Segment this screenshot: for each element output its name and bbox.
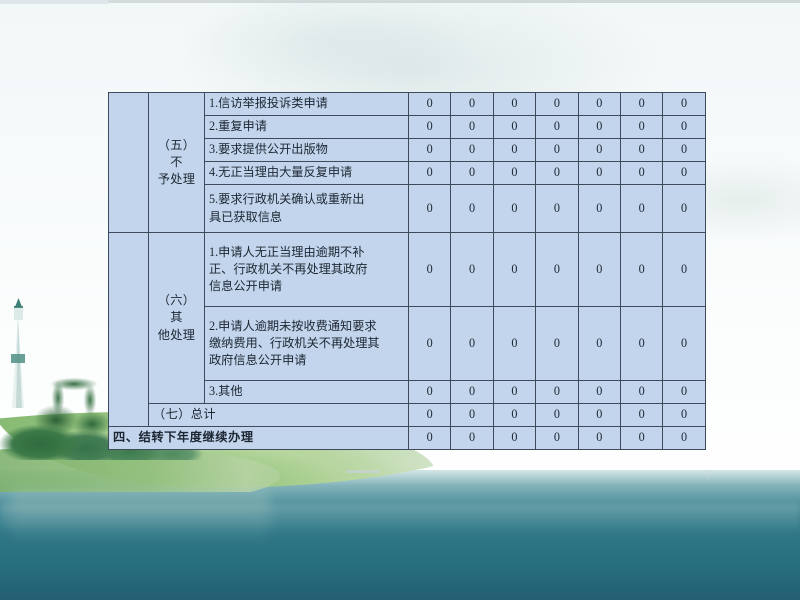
value-cell: 0 bbox=[578, 139, 620, 162]
value-cell: 0 bbox=[663, 139, 705, 162]
value-cell: 0 bbox=[578, 307, 620, 381]
value-cell: 0 bbox=[663, 404, 705, 427]
group-label-five: （五）不 予处理 bbox=[149, 93, 205, 233]
value-cell: 0 bbox=[409, 93, 451, 116]
table-row: （五）不 予处理 1.信访举报投诉类申请 0 0 0 0 0 0 0 bbox=[109, 93, 706, 116]
value-cell: 0 bbox=[620, 93, 662, 116]
value-cell: 0 bbox=[536, 233, 578, 307]
value-cell: 0 bbox=[493, 185, 535, 233]
item-label: 2.申请人逾期未按收费通知要求 缴纳费用、行政机关不再处理其 政府信息公开申请 bbox=[205, 307, 409, 381]
value-cell: 0 bbox=[620, 307, 662, 381]
value-cell: 0 bbox=[409, 139, 451, 162]
group-label-six: （六）其 他处理 bbox=[149, 233, 205, 404]
value-cell: 0 bbox=[409, 116, 451, 139]
item-line: 信息公开申请 bbox=[209, 278, 404, 295]
value-cell: 0 bbox=[578, 427, 620, 450]
item-line: 4.无正当理由大量反复申请 bbox=[209, 164, 404, 181]
group-label-line: （五）不 bbox=[153, 137, 200, 172]
value-cell: 0 bbox=[451, 233, 493, 307]
value-cell: 0 bbox=[451, 404, 493, 427]
item-label: 4.无正当理由大量反复申请 bbox=[205, 162, 409, 185]
value-cell: 0 bbox=[620, 162, 662, 185]
value-cell: 0 bbox=[536, 162, 578, 185]
value-cell: 0 bbox=[451, 93, 493, 116]
value-cell: 0 bbox=[493, 93, 535, 116]
value-cell: 0 bbox=[493, 116, 535, 139]
value-cell: 0 bbox=[451, 307, 493, 381]
value-cell: 0 bbox=[578, 116, 620, 139]
value-cell: 0 bbox=[663, 307, 705, 381]
value-cell: 0 bbox=[578, 162, 620, 185]
value-cell: 0 bbox=[536, 93, 578, 116]
value-cell: 0 bbox=[451, 381, 493, 404]
value-cell: 0 bbox=[578, 381, 620, 404]
item-line: 1.信访举报投诉类申请 bbox=[209, 95, 404, 112]
value-cell: 0 bbox=[409, 307, 451, 381]
presentation-slide: （五）不 予处理 1.信访举报投诉类申请 0 0 0 0 0 0 0 2.重复申… bbox=[0, 0, 800, 600]
value-cell: 0 bbox=[451, 185, 493, 233]
value-cell: 0 bbox=[451, 139, 493, 162]
value-cell: 0 bbox=[536, 116, 578, 139]
item-line: 1.申请人无正当理由逾期不补 bbox=[209, 244, 404, 261]
table-body: （五）不 予处理 1.信访举报投诉类申请 0 0 0 0 0 0 0 2.重复申… bbox=[109, 93, 706, 450]
group-label-line: 予处理 bbox=[153, 171, 200, 188]
group-label-line: （六）其 bbox=[153, 292, 200, 327]
value-cell: 0 bbox=[451, 116, 493, 139]
value-cell: 0 bbox=[493, 139, 535, 162]
scan-artifact-line bbox=[346, 470, 380, 473]
lighthouse-icon bbox=[8, 298, 30, 408]
value-cell: 0 bbox=[493, 427, 535, 450]
top-edge-strip bbox=[0, 0, 800, 3]
value-cell: 0 bbox=[536, 381, 578, 404]
item-line: 2.重复申请 bbox=[209, 118, 404, 135]
value-cell: 0 bbox=[409, 185, 451, 233]
value-cell: 0 bbox=[493, 307, 535, 381]
table-row-carryover: 四、结转下年度继续办理 0 0 0 0 0 0 0 bbox=[109, 427, 706, 450]
value-cell: 0 bbox=[578, 233, 620, 307]
carryover-label: 四、结转下年度继续办理 bbox=[109, 427, 409, 450]
item-label: 1.信访举报投诉类申请 bbox=[205, 93, 409, 116]
item-line: 缴纳费用、行政机关不再处理其 bbox=[209, 335, 404, 352]
value-cell: 0 bbox=[409, 427, 451, 450]
value-cell: 0 bbox=[493, 404, 535, 427]
value-cell: 0 bbox=[578, 93, 620, 116]
item-line: 5.要求行政机关确认或重新出 bbox=[209, 191, 404, 208]
item-line: 政府信息公开申请 bbox=[209, 352, 404, 369]
table-row-total: （七）总计 0 0 0 0 0 0 0 bbox=[109, 404, 706, 427]
government-information-disclosure-table: （五）不 予处理 1.信访举报投诉类申请 0 0 0 0 0 0 0 2.重复申… bbox=[108, 92, 706, 450]
value-cell: 0 bbox=[451, 162, 493, 185]
value-cell: 0 bbox=[536, 404, 578, 427]
item-line: 3.其他 bbox=[209, 383, 404, 400]
value-cell: 0 bbox=[536, 427, 578, 450]
value-cell: 0 bbox=[663, 185, 705, 233]
value-cell: 0 bbox=[620, 116, 662, 139]
total-label: （七）总计 bbox=[149, 404, 409, 427]
item-label: 1.申请人无正当理由逾期不补 正、行政机关不再处理其政府 信息公开申请 bbox=[205, 233, 409, 307]
item-line: 3.要求提供公开出版物 bbox=[209, 141, 404, 158]
item-label: 3.要求提供公开出版物 bbox=[205, 139, 409, 162]
value-cell: 0 bbox=[536, 307, 578, 381]
value-cell: 0 bbox=[620, 381, 662, 404]
value-cell: 0 bbox=[493, 233, 535, 307]
value-cell: 0 bbox=[536, 185, 578, 233]
value-cell: 0 bbox=[451, 427, 493, 450]
value-cell: 0 bbox=[620, 427, 662, 450]
value-cell: 0 bbox=[409, 381, 451, 404]
value-cell: 0 bbox=[663, 162, 705, 185]
value-cell: 0 bbox=[578, 404, 620, 427]
value-cell: 0 bbox=[409, 162, 451, 185]
value-cell: 0 bbox=[663, 93, 705, 116]
value-cell: 0 bbox=[663, 233, 705, 307]
value-cell: 0 bbox=[409, 233, 451, 307]
value-cell: 0 bbox=[493, 162, 535, 185]
palm-tree-icon bbox=[38, 372, 110, 418]
item-label: 3.其他 bbox=[205, 381, 409, 404]
water-reflection bbox=[10, 490, 270, 540]
category-merged-cell-upper bbox=[109, 93, 149, 233]
top-edge-strip-left bbox=[0, 0, 108, 4]
item-label: 2.重复申请 bbox=[205, 116, 409, 139]
value-cell: 0 bbox=[663, 427, 705, 450]
value-cell: 0 bbox=[409, 404, 451, 427]
item-line: 具已获取信息 bbox=[209, 209, 404, 226]
value-cell: 0 bbox=[620, 185, 662, 233]
value-cell: 0 bbox=[620, 404, 662, 427]
category-merged-cell-lower bbox=[109, 233, 149, 427]
value-cell: 0 bbox=[663, 116, 705, 139]
item-line: 正、行政机关不再处理其政府 bbox=[209, 261, 404, 278]
value-cell: 0 bbox=[620, 233, 662, 307]
value-cell: 0 bbox=[493, 381, 535, 404]
table-row: （六）其 他处理 1.申请人无正当理由逾期不补 正、行政机关不再处理其政府 信息… bbox=[109, 233, 706, 307]
item-line: 2.申请人逾期未按收费通知要求 bbox=[209, 318, 404, 335]
value-cell: 0 bbox=[620, 139, 662, 162]
item-label: 5.要求行政机关确认或重新出 具已获取信息 bbox=[205, 185, 409, 233]
value-cell: 0 bbox=[578, 185, 620, 233]
value-cell: 0 bbox=[536, 139, 578, 162]
value-cell: 0 bbox=[663, 381, 705, 404]
group-label-line: 他处理 bbox=[153, 327, 200, 344]
